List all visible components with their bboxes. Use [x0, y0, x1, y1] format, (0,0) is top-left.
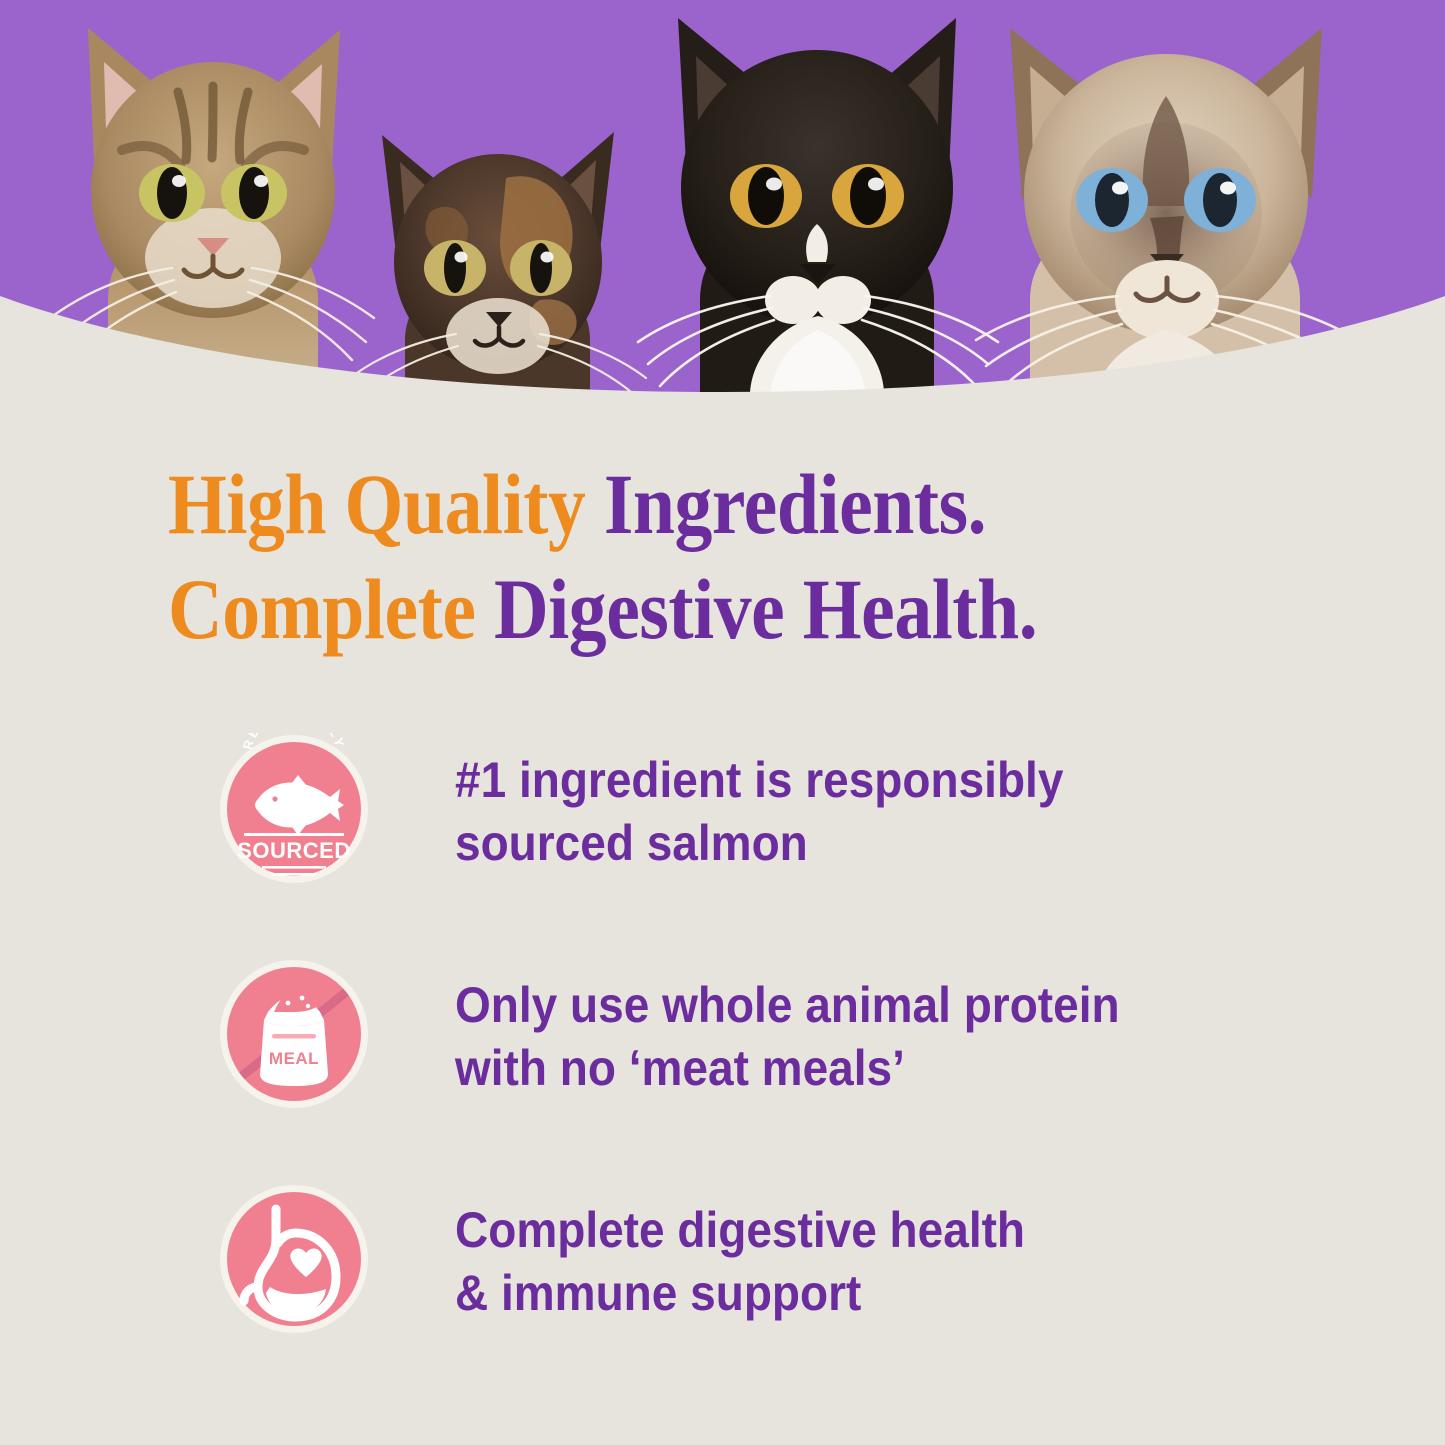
feature-text: #1 ingredient is responsibly sourced sal…: [455, 749, 1219, 875]
feature-item: MEAL Only use whole animal protein with …: [0, 950, 1445, 1175]
no-meat-meal-sack-badge: MEAL: [218, 958, 370, 1110]
feature-item: RESPONSIBLY SOURCED #1 ingredient is re: [0, 725, 1445, 950]
feature-item: Complete digestive health & immune suppo…: [0, 1175, 1445, 1400]
badge-main-text: SOURCED: [237, 838, 351, 863]
headline-line-2-purple: Digestive Health.: [494, 561, 1037, 657]
responsibly-sourced-fish-badge: RESPONSIBLY SOURCED: [218, 733, 370, 885]
headline-line-2: Complete Digestive Health.: [168, 557, 1224, 662]
page-title: High Quality Ingredients. Complete Diges…: [168, 452, 1224, 662]
feature-text: Complete digestive health & immune suppo…: [455, 1199, 1219, 1325]
stomach-heart-digestive-badge: [218, 1183, 370, 1335]
badge-main-text: MEAL: [269, 1049, 319, 1068]
headline-line-1-purple: Ingredients.: [604, 456, 986, 552]
headline-line-1-orange: High Quality: [168, 456, 604, 552]
hero-banner: [0, 0, 1445, 400]
promo-card: High Quality Ingredients. Complete Diges…: [0, 0, 1445, 1445]
cats-illustration: [0, 0, 1445, 400]
cat-tortoiseshell-kitten: [350, 132, 646, 400]
headline-line-1: High Quality Ingredients.: [168, 452, 1224, 557]
headline-line-2-orange: Complete: [168, 561, 494, 657]
feature-text: Only use whole animal protein with no ‘m…: [455, 974, 1219, 1100]
feature-list: RESPONSIBLY SOURCED #1 ingredient is re: [0, 725, 1445, 1400]
